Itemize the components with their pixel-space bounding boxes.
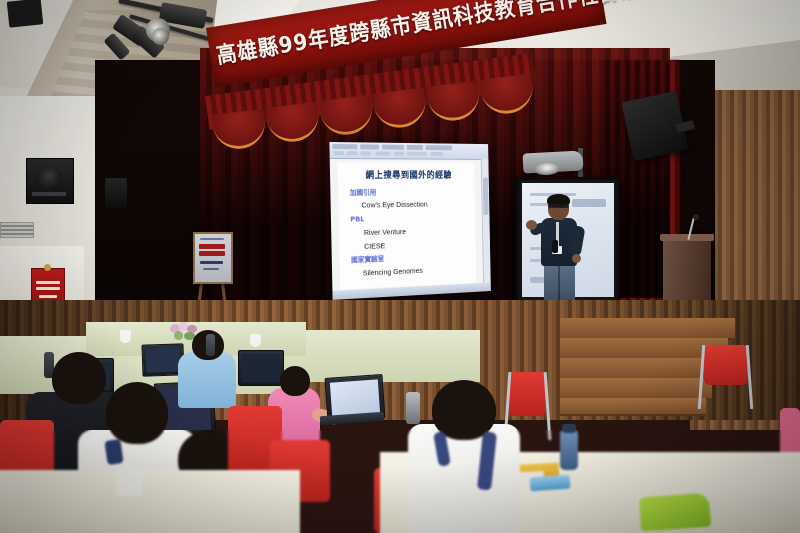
attendee-head	[106, 382, 168, 444]
loudspeaker-icon	[105, 178, 127, 208]
slide-heading: 加國引用	[350, 188, 377, 198]
microphone-icon	[693, 214, 699, 220]
water-bottle	[560, 430, 578, 470]
stage-light-lens-icon	[152, 28, 169, 45]
thermos-bottle	[206, 334, 215, 356]
paper-cup	[116, 470, 142, 496]
slide-title: 網上搜尋到國外的經驗	[351, 168, 465, 181]
slide-heading: 國家實驗室	[351, 254, 384, 265]
folding-chair	[704, 345, 748, 385]
air-vent-icon	[0, 222, 34, 238]
attendee-head	[52, 352, 106, 404]
glasses-icon	[548, 204, 569, 208]
slide-item: Cow's Eye Dissection	[361, 200, 427, 210]
paper-cup	[120, 330, 131, 343]
seminar-hall-photo: 高雄縣99年度跨縣市資訊科技教育合作社群研討會 網上搜尋到國外的經驗 加國引用 …	[0, 0, 800, 533]
bottle-cap	[562, 424, 576, 433]
presenter-right-hand	[572, 254, 581, 263]
paper-cup	[250, 334, 261, 347]
projection-screen: 網上搜尋到國外的經驗 加國引用 Cow's Eye Dissection PBL…	[329, 142, 490, 300]
slide-content: 網上搜尋到國外的經驗 加國引用 Cow's Eye Dissection PBL…	[338, 162, 477, 290]
folding-chair	[508, 372, 546, 416]
attendee-collar-mark	[104, 439, 123, 465]
loudspeaker-icon	[7, 0, 44, 28]
slide-item: River Venture	[364, 227, 406, 237]
attendee-head	[280, 366, 310, 396]
slide-item: Silencing Genomes	[363, 266, 423, 277]
easel-sign	[193, 232, 233, 284]
speaker-grill	[32, 192, 66, 196]
slide-item: CIESE	[364, 241, 385, 251]
green-bag	[639, 493, 711, 532]
attendee-body	[408, 424, 520, 533]
presenter-left-hand	[526, 220, 537, 230]
slide-scrollbar-thumb[interactable]	[483, 178, 489, 215]
presentation-toolbar	[329, 142, 488, 160]
stationery-item	[530, 475, 571, 492]
front-table	[0, 470, 300, 533]
slide-heading: PBL	[350, 215, 364, 223]
speaker-cone-icon	[36, 166, 62, 188]
attendee-body	[178, 352, 236, 408]
thermos-bottle	[406, 392, 420, 424]
cabinet-alarm-light-icon	[44, 264, 51, 271]
laptop	[238, 350, 284, 386]
microphone-icon	[552, 240, 558, 253]
